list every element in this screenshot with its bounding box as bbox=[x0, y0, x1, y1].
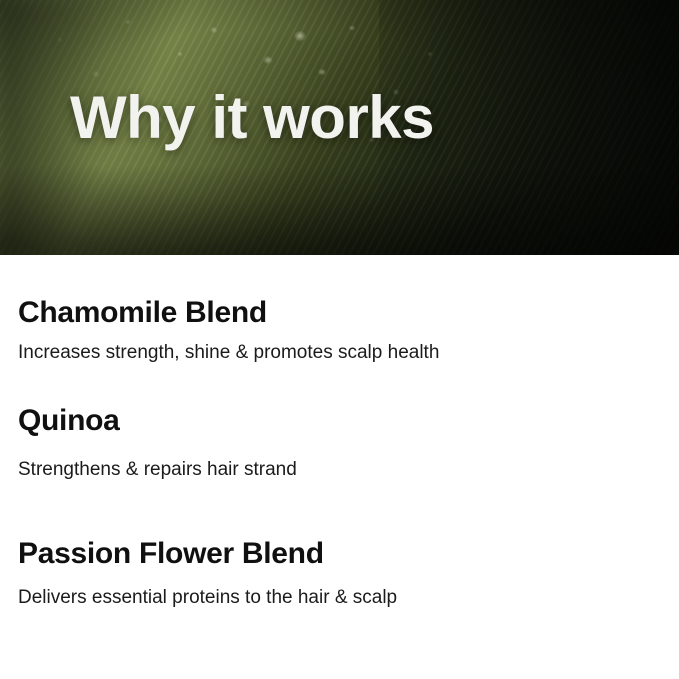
ingredient-description: Increases strength, shine & promotes sca… bbox=[18, 340, 661, 366]
ingredient-name: Passion Flower Blend bbox=[18, 536, 661, 572]
ingredient-description: Delivers essential proteins to the hair … bbox=[18, 585, 661, 611]
ingredient-item: Quinoa Strengthens & repairs hair strand bbox=[18, 403, 661, 483]
ingredient-name: Chamomile Blend bbox=[18, 295, 661, 331]
ingredient-item: Passion Flower Blend Delivers essential … bbox=[18, 536, 661, 611]
hero-banner: Why it works bbox=[0, 0, 679, 255]
ingredient-description: Strengthens & repairs hair strand bbox=[18, 457, 661, 483]
ingredient-list: Chamomile Blend Increases strength, shin… bbox=[0, 255, 679, 679]
hero-title: Why it works bbox=[70, 84, 434, 152]
ingredient-item: Chamomile Blend Increases strength, shin… bbox=[18, 295, 661, 366]
product-info-page: Why it works Chamomile Blend Increases s… bbox=[0, 0, 679, 679]
ingredient-name: Quinoa bbox=[18, 403, 661, 439]
